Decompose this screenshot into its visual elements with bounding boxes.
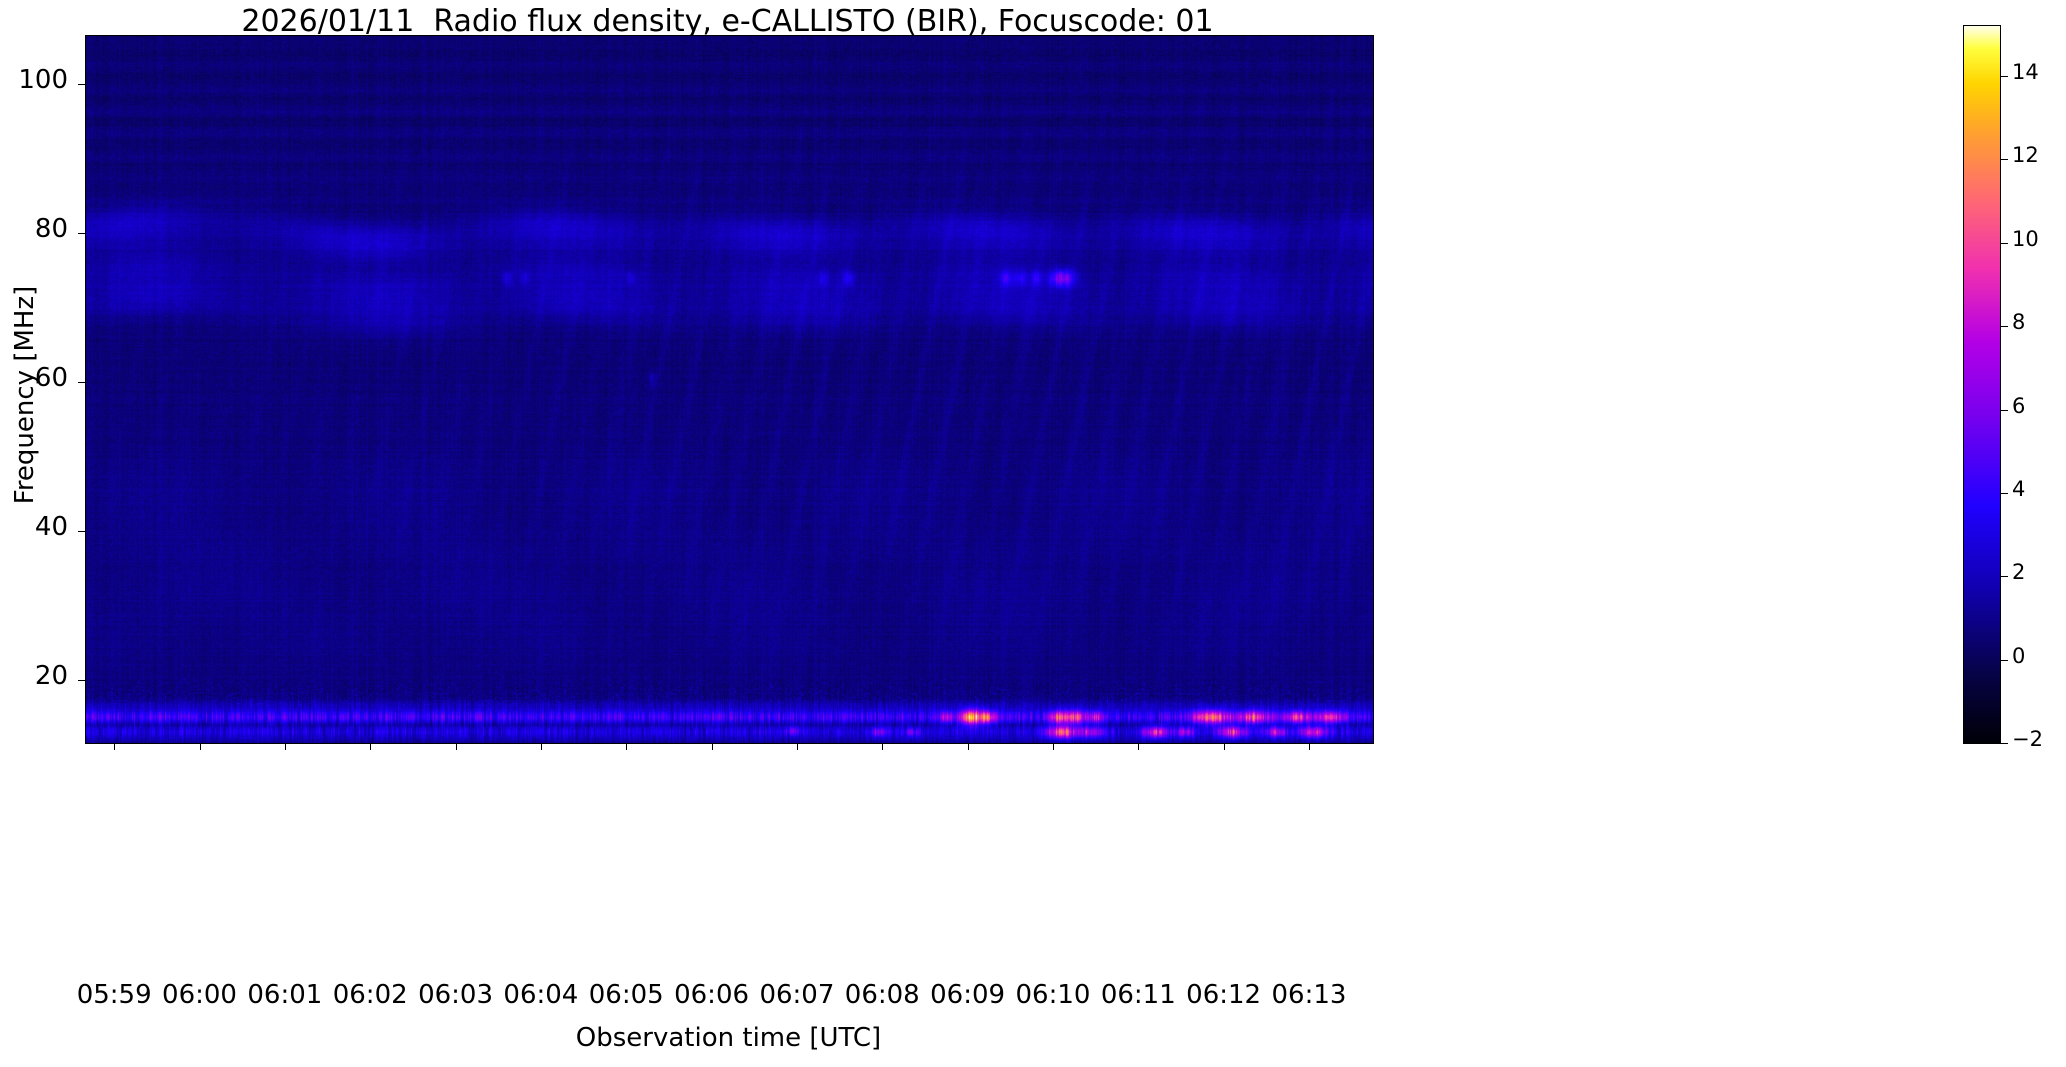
y-axis-label: Frequency [MHz] bbox=[10, 75, 40, 715]
y-tick-label: 100 bbox=[0, 67, 68, 93]
x-tick-label: 06:13 bbox=[1229, 982, 1389, 1008]
colorbar-tick-label: 14 bbox=[2012, 62, 2066, 83]
colorbar-tick-mark bbox=[2001, 410, 2008, 411]
colorbar-tick-label: 10 bbox=[2012, 229, 2066, 250]
colorbar-tick-label: 12 bbox=[2012, 145, 2066, 166]
x-axis-label: Observation time [UTC] bbox=[85, 1023, 1372, 1053]
colorbar-tick-mark bbox=[2001, 493, 2008, 494]
y-tick-mark bbox=[78, 531, 85, 532]
spectrogram-plot-area[interactable] bbox=[85, 35, 1374, 744]
colorbar[interactable] bbox=[1963, 25, 2001, 744]
x-tick-mark bbox=[882, 743, 883, 750]
y-tick-mark bbox=[78, 233, 85, 234]
spectrogram-figure: 2026/01/11 Radio flux density, e-CALLIST… bbox=[0, 0, 2066, 1067]
colorbar-gradient bbox=[1964, 26, 2000, 743]
x-tick-mark bbox=[1224, 743, 1225, 750]
colorbar-tick-label: 4 bbox=[2012, 479, 2066, 500]
x-tick-mark bbox=[1138, 743, 1139, 750]
x-tick-mark bbox=[1053, 743, 1054, 750]
x-tick-mark bbox=[712, 743, 713, 750]
y-tick-label: 20 bbox=[0, 663, 68, 689]
x-tick-mark bbox=[114, 743, 115, 750]
y-tick-mark bbox=[78, 680, 85, 681]
x-tick-mark bbox=[1309, 743, 1310, 750]
y-tick-label: 80 bbox=[0, 216, 68, 242]
colorbar-tick-mark bbox=[2001, 576, 2008, 577]
colorbar-tick-label: 2 bbox=[2012, 562, 2066, 583]
x-tick-mark bbox=[626, 743, 627, 750]
y-tick-label: 40 bbox=[0, 514, 68, 540]
x-tick-mark bbox=[456, 743, 457, 750]
y-tick-mark bbox=[78, 84, 85, 85]
colorbar-tick-label: 8 bbox=[2012, 312, 2066, 333]
colorbar-tick-label: −2 bbox=[2012, 729, 2066, 750]
colorbar-tick-mark bbox=[2001, 159, 2008, 160]
colorbar-tick-label: 6 bbox=[2012, 396, 2066, 417]
y-tick-label: 60 bbox=[0, 365, 68, 391]
x-tick-mark bbox=[285, 743, 286, 750]
colorbar-tick-label: 0 bbox=[2012, 646, 2066, 667]
x-tick-mark bbox=[968, 743, 969, 750]
page-title: 2026/01/11 Radio flux density, e-CALLIST… bbox=[0, 4, 1455, 39]
x-tick-mark bbox=[200, 743, 201, 750]
colorbar-tick-mark bbox=[2001, 243, 2008, 244]
colorbar-tick-mark bbox=[2001, 76, 2008, 77]
x-tick-mark bbox=[797, 743, 798, 750]
colorbar-tick-mark bbox=[2001, 660, 2008, 661]
spectrogram-image[interactable] bbox=[86, 36, 1373, 743]
colorbar-tick-mark bbox=[2001, 743, 2008, 744]
y-tick-mark bbox=[78, 382, 85, 383]
x-tick-mark bbox=[370, 743, 371, 750]
colorbar-tick-mark bbox=[2001, 326, 2008, 327]
x-tick-mark bbox=[541, 743, 542, 750]
